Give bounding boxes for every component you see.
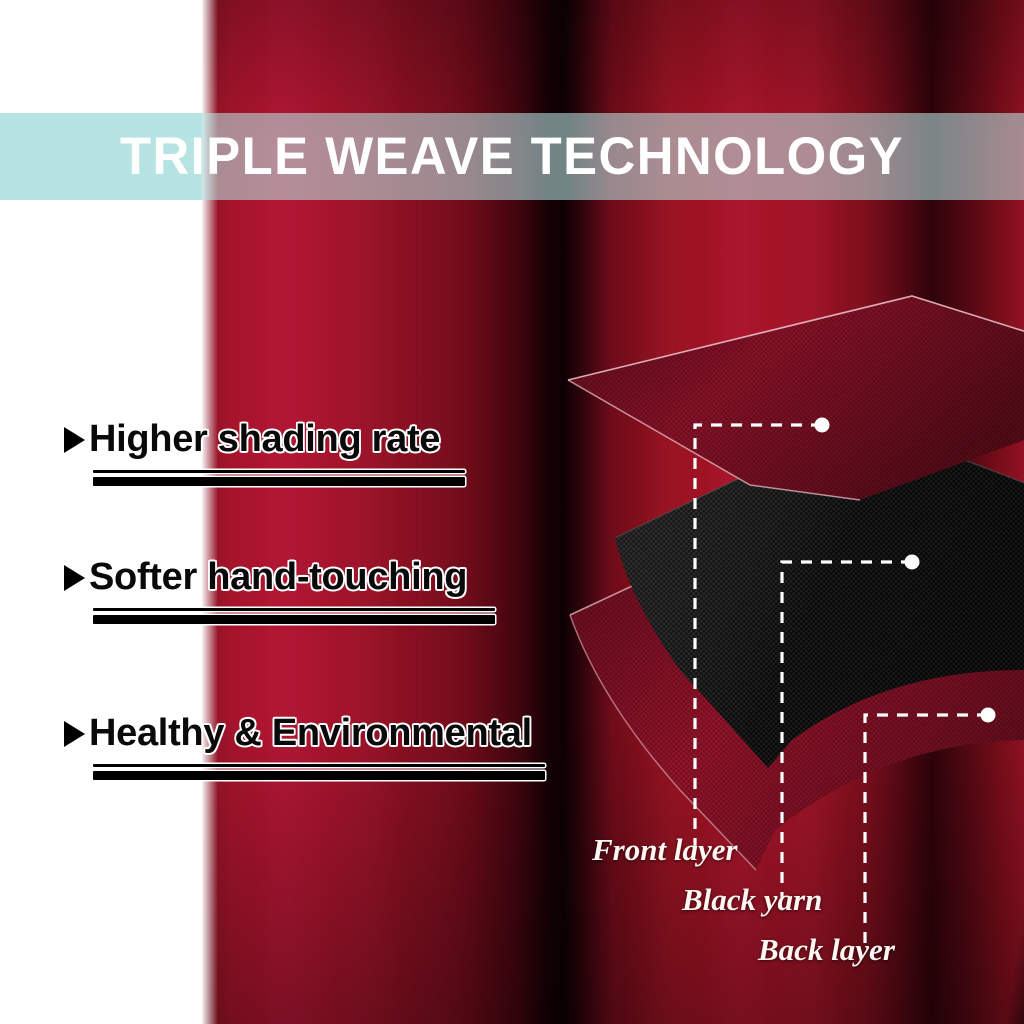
leader-dot-black-yarn (905, 555, 920, 570)
underline-thick (93, 477, 465, 486)
label-black-yarn: Black yarn (682, 882, 822, 918)
underline-thin (93, 470, 465, 473)
leader-dot-back-layer (981, 708, 996, 723)
feature-item-3: Healthy & Environmental (64, 712, 545, 780)
feature-item-2: Softer hand-touching (64, 556, 495, 624)
feature-label-3: Healthy & Environmental (89, 712, 532, 755)
feature-label-2: Softer hand-touching (89, 556, 467, 599)
underline-thick (93, 615, 495, 624)
triangle-right-icon (64, 565, 85, 591)
feature-underline-3 (93, 764, 545, 780)
triangle-right-icon (64, 721, 85, 747)
label-front-layer: Front layer (592, 832, 738, 868)
feature-underline-1 (93, 470, 465, 486)
leader-dot-front-layer (815, 418, 830, 433)
underline-thin (93, 608, 495, 611)
feature-item-1: Higher shading rate (64, 418, 465, 486)
layer-diagram-svg (560, 270, 1024, 870)
triangle-right-icon (64, 427, 85, 453)
underline-thin (93, 764, 545, 767)
headline-banner: TRIPLE WEAVE TECHNOLOGY (0, 113, 1024, 200)
banner-title: TRIPLE WEAVE TECHNOLOGY (20, 113, 1003, 200)
triple-weave-layer-diagram: Front layer Black yarn Back layer (560, 270, 1024, 870)
underline-thick (93, 771, 545, 780)
product-feature-image: TRIPLE WEAVE TECHNOLOGY Higher shading r… (0, 0, 1024, 1024)
feature-underline-2 (93, 608, 495, 624)
feature-label-1: Higher shading rate (89, 418, 440, 461)
label-back-layer: Back layer (758, 932, 895, 968)
